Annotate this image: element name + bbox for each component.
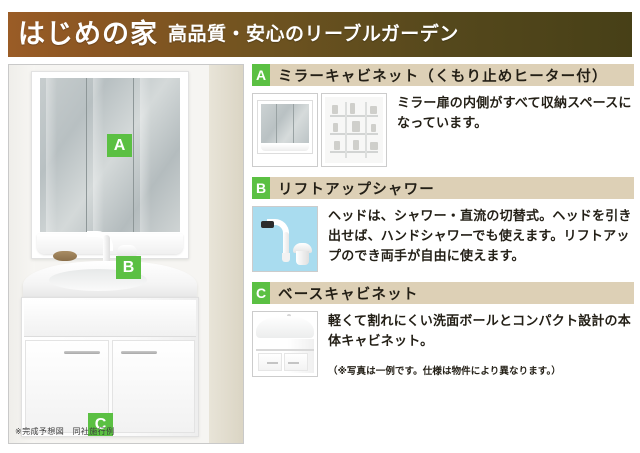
thumb-mirror-pane-3 [294,104,309,143]
photo-badge-a: A [107,134,132,157]
thumb-mirror-pane-1 [261,104,277,143]
section-c-body: 軽くて割れにくい洗面ボールとコンパクト設計の本体キャビネット。 （※写真は一例で… [252,304,634,379]
page-subtitle: 高品質・安心のリーブルガーデン [168,25,459,44]
section-c-header: C ベースキャビネット [252,282,634,304]
thumb-item-9 [370,142,378,150]
section-b-header: B リフトアップシャワー [252,177,634,199]
thumb-handle-right [288,362,299,364]
section-a-thumbnails [252,93,387,167]
base-cabinet-door-right [112,340,195,433]
thumb-item-1 [332,105,338,114]
thumb-shelf-interior [325,97,383,163]
thumb-cabinet-body [256,339,314,373]
section-lift-up-shower: B リフトアップシャワー ヘッドは、シャワー・直流の切替式。ヘッドを引き出せば、… [252,177,634,272]
mirror-cabinet-unit [31,71,189,259]
shower-base-tip [282,253,290,262]
section-a-description: ミラー扉の内側がすべて収納スペースになっています。 [397,93,634,167]
page-header-banner: はじめの家 高品質・安心のリーブルガーデン [8,12,632,57]
section-a-title: ミラーキャビネット（くもり止めヒーター付） [278,65,608,86]
thumb-item-2 [350,103,355,114]
section-mirror-cabinet: A ミラーキャビネット（くもり止めヒーター付） [252,64,634,167]
thumb-cabinet-door-left [258,353,282,371]
section-c-description: 軽くて割れにくい洗面ボールとコンパクト設計の本体キャビネット。 [328,311,634,351]
basin-counter [23,261,197,301]
thumb-frame [257,100,313,154]
mirror-door-right [134,78,180,232]
wall-right [209,65,243,443]
mixer-body [296,251,309,265]
mirror-door-left [40,78,87,232]
thumb-item-5 [352,121,360,132]
door-handle-left [64,351,100,354]
section-c-footnote: （※写真は一例です。仕様は物件により異なります。） [328,365,634,379]
thumb-cabinet-seam [256,349,314,351]
thumb-mirror-pane-2 [277,104,293,143]
thumb-mirror-glass [261,104,309,143]
thumbnail-mirror-cabinet-open [321,93,387,167]
section-b-badge: B [252,177,270,199]
thumbnail-lift-up-shower [252,206,318,272]
thumb-item-3 [370,106,377,114]
thumb-shelf-line-3 [330,151,378,153]
photo-caption: ※完成予想図 同社施行例 [15,426,115,437]
section-a-header: A ミラーキャビネット（くもり止めヒーター付） [252,64,634,86]
section-a-body: ミラー扉の内側がすべて収納スペースになっています。 [252,86,634,167]
thumb-shelf-line-2 [330,133,378,135]
section-b-body: ヘッドは、シャワー・直流の切替式。ヘッドを引き出せば、ハンドシャワーでも使えます… [252,199,634,272]
section-base-cabinet: C ベースキャビネット [252,282,634,379]
thumbnail-mirror-cabinet-closed [252,93,318,167]
base-cabinet-drawer [24,300,196,337]
section-c-title: ベースキャビネット [278,283,419,304]
thumb-divider-1 [345,102,347,158]
thumb-cabinet-door-right [284,353,308,371]
thumbnail-base-cabinet [252,311,318,377]
section-c-badge: C [252,282,270,304]
photo-badge-b: B [116,256,141,279]
door-handle-right [121,351,157,354]
thumb-mirror-base [261,144,309,151]
section-c-text-block: 軽くて割れにくい洗面ボールとコンパクト設計の本体キャビネット。 （※写真は一例で… [318,311,634,379]
thumb-wash-bowl [256,316,314,338]
shower-head [261,221,274,228]
thumb-divider-2 [365,102,367,158]
section-b-title: リフトアップシャワー [278,178,435,199]
section-b-description: ヘッドは、シャワー・直流の切替式。ヘッドを引き出せば、ハンドシャワーでも使えます… [328,206,634,272]
thumb-item-8 [353,140,359,150]
soap-dish [53,251,77,261]
section-c-thumbnails [252,311,318,379]
page-title: はじめの家 [18,21,158,48]
thumb-shelf-line-1 [330,115,378,117]
section-a-badge: A [252,64,270,86]
thumb-item-7 [334,141,340,150]
feature-sections: A ミラーキャビネット（くもり止めヒーター付） [252,64,634,379]
thumb-item-4 [333,123,338,132]
thumb-handle-left [267,362,278,364]
main-vanity-photo: A B C ※完成予想図 同社施行例 [8,64,244,444]
thumb-item-6 [371,124,376,132]
section-b-thumbnails [252,206,318,272]
